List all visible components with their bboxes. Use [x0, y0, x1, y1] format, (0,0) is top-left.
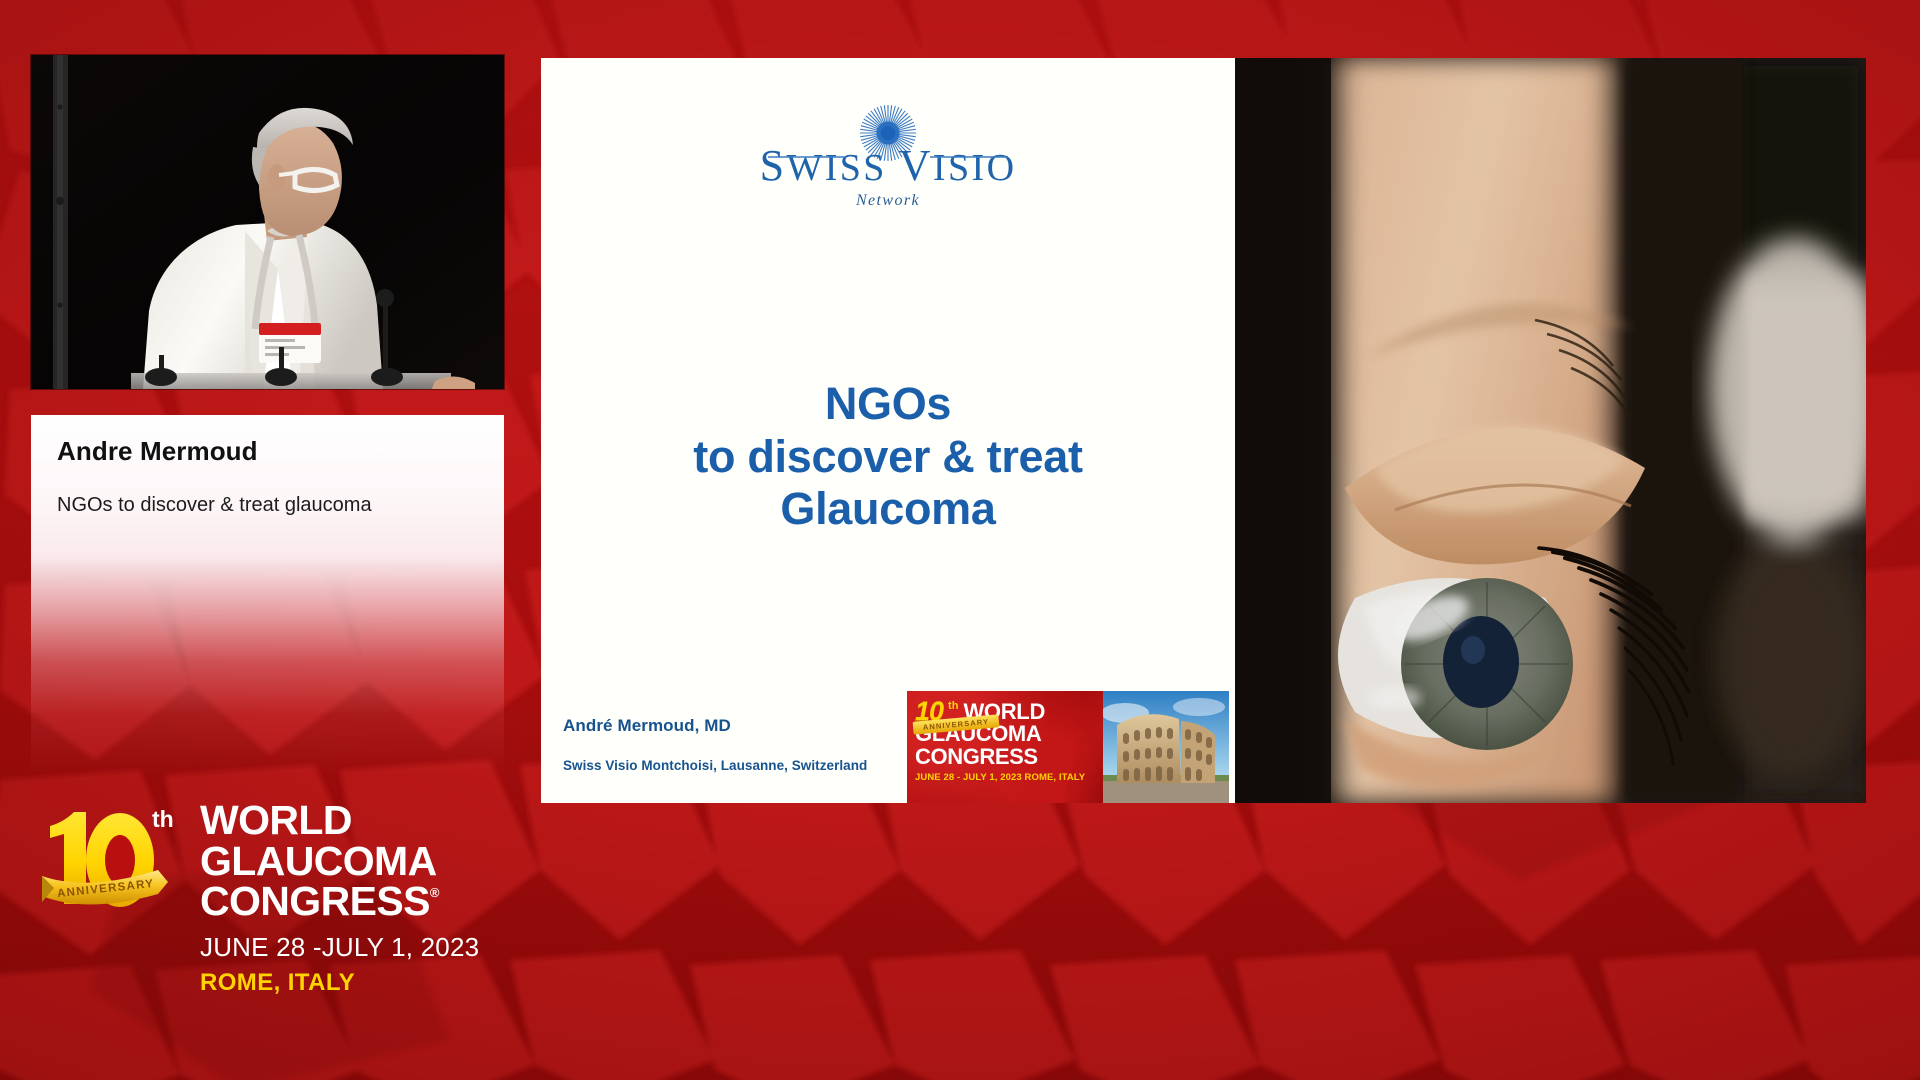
colosseum-photo [1103, 691, 1229, 803]
session-player-stage: Andre Mermoud NGOs to discover & treat g… [0, 0, 1920, 1080]
author-name: André Mermoud, MD [563, 716, 893, 736]
slide-byline: André Mermoud, MD Swiss Visio Montchoisi… [563, 716, 893, 773]
speaker-name: Andre Mermoud [57, 437, 478, 467]
brand-line-congress: CONGRESS® [200, 881, 430, 922]
logo-rule-lines [754, 150, 1022, 164]
congress-banner: 10 th WORLD ANNIVERSARY GLAUCOMA CONGRES… [907, 691, 1229, 803]
brand-line-world: WORLD [200, 800, 479, 841]
logo-s: S [760, 141, 787, 190]
logo-subtitle: Network [754, 192, 1022, 210]
banner-line-3: CONGRESS [915, 746, 1103, 768]
congress-branding: ANNIVERSARY th WORLD GLAUCOMA CONGRESS® … [40, 796, 540, 1026]
slide-title-line-1: NGOs [567, 378, 1209, 431]
speaker-video-image [31, 55, 504, 389]
speaker-video-feed[interactable] [31, 55, 504, 389]
speaker-info-card: Andre Mermoud NGOs to discover & treat g… [31, 415, 504, 790]
congress-banner-text: 10 th WORLD ANNIVERSARY GLAUCOMA CONGRES… [907, 691, 1103, 803]
author-affiliation: Swiss Visio Montchoisi, Lausanne, Switze… [563, 758, 893, 773]
eye-photo-image [1235, 58, 1866, 803]
slide-title-line-3: Glaucoma [567, 483, 1209, 536]
anniversary-badge: ANNIVERSARY th [40, 800, 190, 910]
logo-v: V [899, 141, 933, 190]
congress-brand-text: WORLD GLAUCOMA CONGRESS® JUNE 28 -JULY 1… [200, 796, 479, 997]
congress-city: ROME, ITALY [200, 969, 479, 997]
slide-title: NGOs to discover & treat Glaucoma [541, 378, 1235, 536]
brand-congress-word: CONGRESS [200, 878, 430, 924]
brand-trademark: ® [430, 887, 439, 900]
slide-title-line-2: to discover & treat [567, 431, 1209, 484]
congress-dates: JUNE 28 -JULY 1, 2023 [200, 932, 479, 963]
banner-ordinal-suffix: th [948, 700, 958, 712]
banner-dates: JUNE 28 - JULY 1, 2023 ROME, ITALY [915, 772, 1103, 783]
colosseum-image [1103, 691, 1229, 803]
speaker-talk-title: NGOs to discover & treat glaucoma [57, 493, 478, 518]
brand-line-glaucoma: GLAUCOMA [200, 841, 479, 882]
presentation-slide[interactable]: SWISS VISIO Network NGOs to discover & t… [541, 58, 1235, 803]
slit-lamp-eye-photo[interactable] [1235, 58, 1866, 803]
swiss-visio-logo: SWISS VISIO Network [541, 102, 1235, 210]
anniversary-ordinal-suffix: th [152, 806, 174, 833]
